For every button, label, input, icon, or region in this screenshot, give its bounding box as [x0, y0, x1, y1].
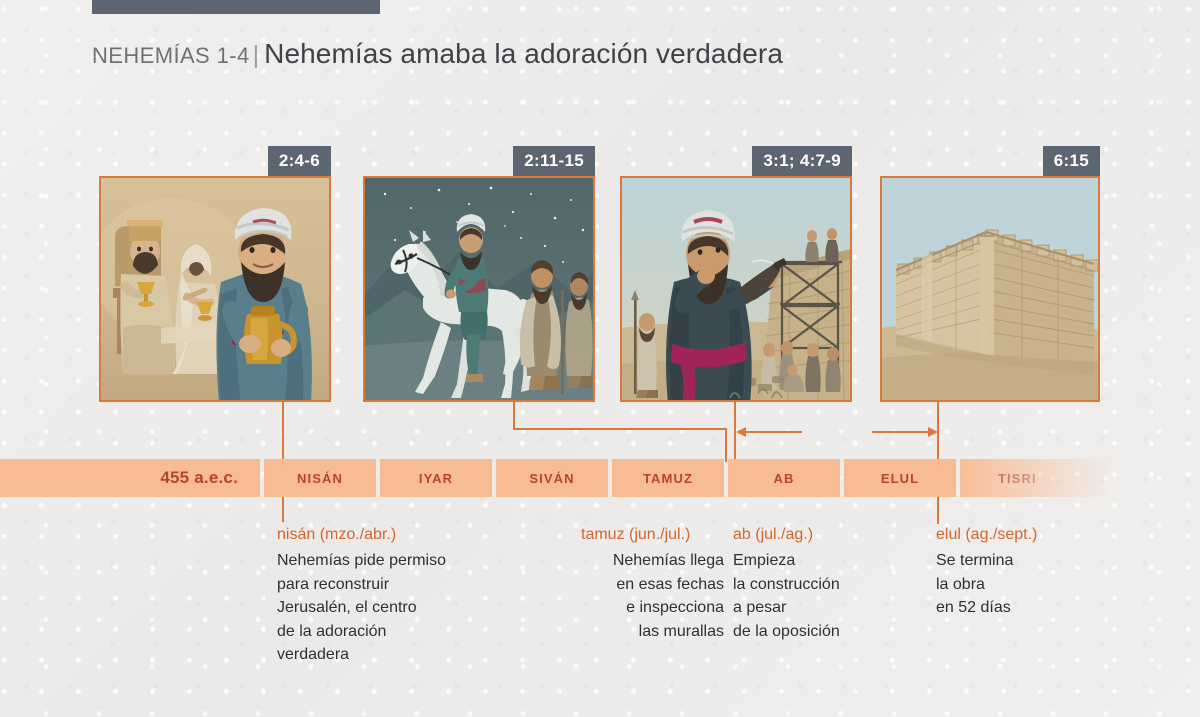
note-line: en 52 días: [936, 596, 1037, 620]
page-header: NEHEMÍAS 1-4|Nehemías amaba la adoración…: [92, 38, 783, 70]
illustration-card-3[interactable]: 3:1; 4:7-9: [620, 176, 852, 402]
note-line: Jerusalén, el centro: [277, 596, 446, 620]
illustration-night-ride-inspection: [365, 178, 595, 402]
top-accent-bar: [92, 0, 380, 14]
note-month-label: ab (jul./ag.): [733, 525, 840, 545]
timeline-month-label: TAMUZ: [643, 471, 693, 486]
connector-line-tamuz-v2: [725, 428, 727, 462]
note-line: para reconstruir: [277, 573, 446, 597]
timeline-month-iyar[interactable]: IYAR: [380, 459, 492, 497]
note-line: la construcción: [733, 573, 840, 597]
timeline-month-label: AB: [774, 471, 795, 486]
illustration-card-2[interactable]: 2:11-15: [363, 176, 595, 402]
scripture-citation: NEHEMÍAS 1-4: [92, 43, 250, 68]
timeline-month-nisan[interactable]: NISÁN: [264, 459, 376, 497]
note-line: las murallas: [455, 620, 724, 644]
timeline-month-sivan[interactable]: SIVÁN: [496, 459, 608, 497]
note-line: en esas fechas: [455, 573, 724, 597]
note-month-label: tamuz (jun./jul.): [455, 525, 724, 545]
illustration-cupbearer-before-king: [101, 178, 331, 402]
timeline-month-label: ELUL: [881, 471, 919, 486]
timeline-month-label: NISÁN: [297, 471, 343, 486]
timeline-month-label: IYAR: [419, 471, 453, 486]
scripture-ref-badge-3: 3:1; 4:7-9: [752, 146, 852, 176]
timeline-era-label: 455 a.e.c.: [160, 468, 238, 488]
illustration-frame-3: [620, 176, 852, 402]
note-body: Nehemías pide permiso para reconstruir J…: [277, 549, 446, 667]
note-line: a pesar: [733, 596, 840, 620]
note-line: de la oposición: [733, 620, 840, 644]
timeline-month-label: SIVÁN: [529, 471, 574, 486]
scripture-ref-badge-4: 6:15: [1043, 146, 1100, 176]
timeline-month-label: TISRI: [998, 471, 1037, 486]
note-line: Se termina: [936, 549, 1037, 573]
note-body: Se termina la obra en 52 días: [936, 549, 1037, 620]
span-arrow-left-shaft: [742, 431, 802, 433]
span-arrow-right-shaft: [872, 431, 932, 433]
illustration-frame-4: [880, 176, 1100, 402]
note-line: Nehemías pide permiso: [277, 549, 446, 573]
timeline-era-cell: 455 a.e.c.: [0, 459, 260, 497]
timeline-month-tamuz[interactable]: TAMUZ: [612, 459, 724, 497]
note-line: Empieza: [733, 549, 840, 573]
illustration-finished-wall: [882, 178, 1100, 402]
timeline-month-elul[interactable]: ELUL: [844, 459, 956, 497]
timeline-month-tisri[interactable]: TISRI: [960, 459, 1112, 497]
note-tamuz: tamuz (jun./jul.) Nehemías llega en esas…: [455, 525, 724, 643]
page-title: Nehemías amaba la adoración verdadera: [264, 38, 783, 69]
illustration-card-4[interactable]: 6:15: [880, 176, 1100, 402]
illustration-card-1[interactable]: 2:4-6: [99, 176, 331, 402]
connector-line-tamuz-v1: [513, 402, 515, 430]
span-arrow-left-head: [736, 427, 746, 437]
note-body: Empieza la construcción a pesar de la op…: [733, 549, 840, 643]
note-line: Nehemías llega: [455, 549, 724, 573]
note-line: e inspecciona: [455, 596, 724, 620]
header-separator: |: [253, 41, 260, 69]
note-line: verdadera: [277, 643, 446, 667]
illustration-wall-construction: [622, 178, 852, 402]
note-month-label: elul (ag./sept.): [936, 525, 1037, 545]
note-nisan: nisán (mzo./abr.) Nehemías pide permiso …: [277, 525, 446, 667]
scripture-ref-badge-1: 2:4-6: [268, 146, 331, 176]
scripture-ref-badge-2: 2:11-15: [513, 146, 595, 176]
timeline-bar: 455 a.e.c. NISÁN IYAR SIVÁN TAMUZ AB ELU…: [0, 459, 1112, 497]
note-body: Nehemías llega en esas fechas e inspecci…: [455, 549, 724, 643]
illustration-frame-1: [99, 176, 331, 402]
connector-line-tamuz-h: [513, 428, 727, 430]
note-month-label: nisán (mzo./abr.): [277, 525, 446, 545]
note-elul: elul (ag./sept.) Se termina la obra en 5…: [936, 525, 1037, 620]
span-arrow-right-head: [928, 427, 938, 437]
note-line: la obra: [936, 573, 1037, 597]
illustration-frame-2: [363, 176, 595, 402]
note-line: de la adoración: [277, 620, 446, 644]
timeline-month-ab[interactable]: AB: [728, 459, 840, 497]
note-ab: ab (jul./ag.) Empieza la construcción a …: [733, 525, 840, 643]
